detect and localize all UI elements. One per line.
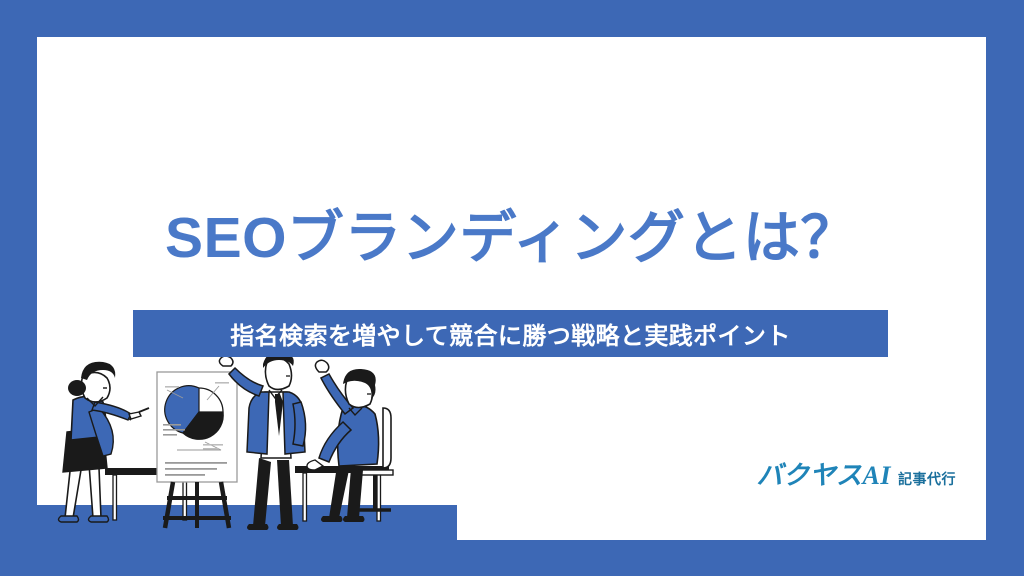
- slide-inner-white-area: SEOブランディングとは？ 指名検索を増やして競合に勝つ戦略と実践ポイント バク…: [37, 37, 986, 540]
- figure-woman-pointing: [59, 362, 150, 522]
- brand-logo-sub: 記事代行: [898, 469, 956, 489]
- page-title: SEOブランディングとは？: [37, 209, 986, 269]
- hair-bun: [68, 380, 86, 396]
- brand-logo-main: バクヤスAI: [757, 455, 891, 492]
- flipchart-easel-with-pie-chart: [157, 372, 237, 528]
- slide-canvas: SEOブランディングとは？ 指名検索を増やして競合に勝つ戦略と実践ポイント バク…: [0, 0, 1024, 576]
- brand-logo: バクヤスAI 記事代行: [757, 455, 956, 492]
- subtitle-text: 指名検索を増やして競合に勝つ戦略と実践ポイント: [230, 316, 790, 351]
- business-team-presentation-illustration: [37, 350, 457, 540]
- subtitle-banner: 指名検索を増やして競合に勝つ戦略と実践ポイント: [133, 310, 888, 357]
